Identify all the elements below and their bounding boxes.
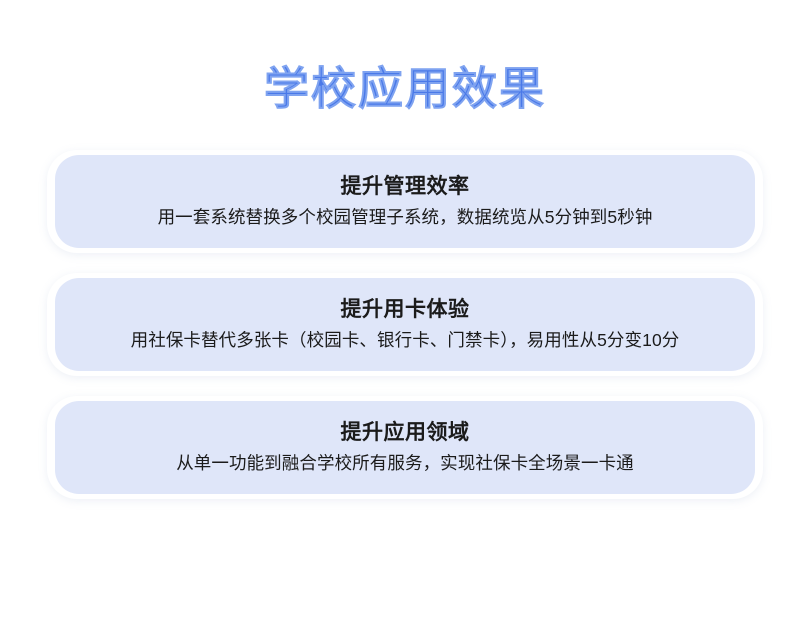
benefit-card-description: 用一套系统替换多个校园管理子系统，数据统览从5分钟到5秒钟 xyxy=(158,204,653,230)
benefit-card: 提升用卡体验 用社保卡替代多张卡（校园卡、银行卡、门禁卡），易用性从5分变10分 xyxy=(47,273,763,376)
benefit-card-description: 用社保卡替代多张卡（校园卡、银行卡、门禁卡），易用性从5分变10分 xyxy=(131,327,680,353)
benefit-card-body: 提升管理效率 用一套系统替换多个校园管理子系统，数据统览从5分钟到5秒钟 xyxy=(55,155,755,248)
benefit-card: 提升应用领域 从单一功能到融合学校所有服务，实现社保卡全场景一卡通 xyxy=(47,396,763,499)
page-title: 学校应用效果 xyxy=(0,60,810,118)
benefit-card-body: 提升应用领域 从单一功能到融合学校所有服务，实现社保卡全场景一卡通 xyxy=(55,401,755,494)
benefit-card-description: 从单一功能到融合学校所有服务，实现社保卡全场景一卡通 xyxy=(176,450,634,476)
benefit-card-list: 提升管理效率 用一套系统替换多个校园管理子系统，数据统览从5分钟到5秒钟 提升用… xyxy=(47,150,763,499)
benefit-card-title: 提升应用领域 xyxy=(341,419,470,447)
school-application-effect-page: 学校应用效果 提升管理效率 用一套系统替换多个校园管理子系统，数据统览从5分钟到… xyxy=(0,0,810,622)
benefit-card-title: 提升管理效率 xyxy=(341,173,470,201)
benefit-card: 提升管理效率 用一套系统替换多个校园管理子系统，数据统览从5分钟到5秒钟 xyxy=(47,150,763,253)
benefit-card-body: 提升用卡体验 用社保卡替代多张卡（校园卡、银行卡、门禁卡），易用性从5分变10分 xyxy=(55,278,755,371)
benefit-card-title: 提升用卡体验 xyxy=(341,296,470,324)
